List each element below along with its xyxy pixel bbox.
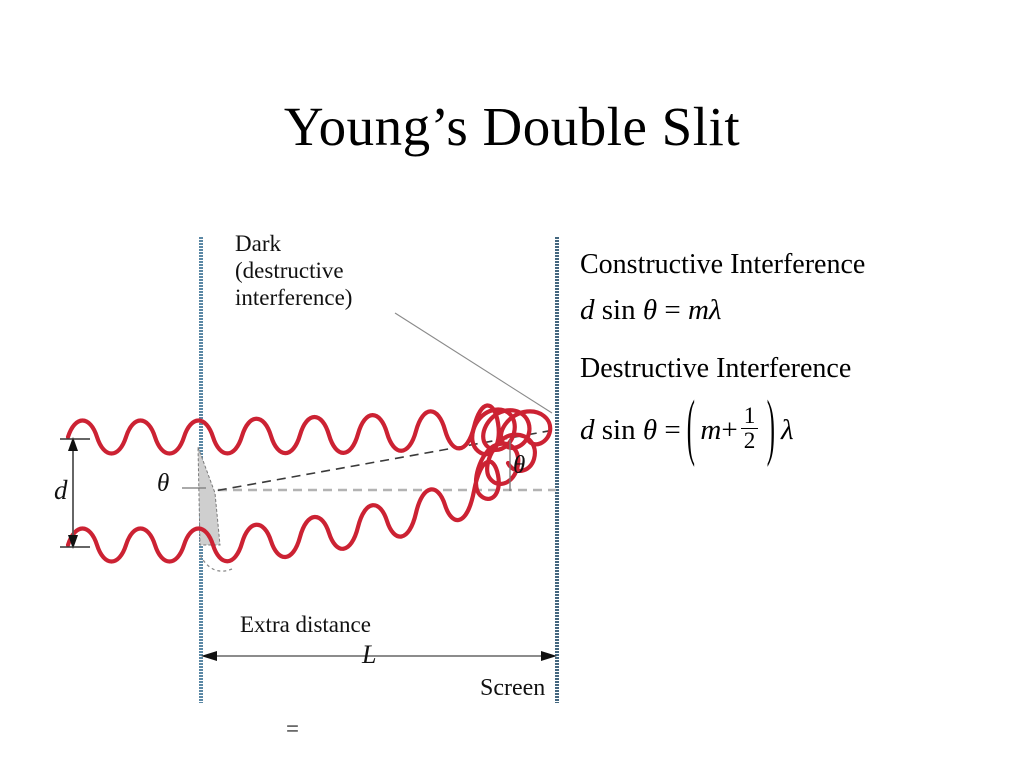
theta-label-left: θ — [157, 470, 169, 498]
slide-canvas: Young’s Double Slit — [0, 0, 1024, 768]
formula-sin: sin — [602, 414, 636, 446]
screen-label: Screen — [480, 675, 545, 702]
formula-plus: + — [721, 414, 737, 446]
one-half-fraction: 1 2 — [288, 742, 331, 768]
formula-sin: sin — [602, 294, 636, 326]
constructive-interference-formula: d sin θ = mλ — [580, 290, 1010, 330]
upper-wave — [68, 405, 550, 454]
fraction-numerator: 1 — [741, 404, 759, 428]
formula-lambda: λ — [781, 414, 794, 446]
extra-distance-label: Extra distance = 1 2 λ — [240, 560, 371, 768]
theta-label-right: θ — [513, 452, 525, 480]
double-slit-diagram: Dark (destructive interference) Extra di… — [40, 225, 580, 715]
L-arrow-head-left — [201, 651, 217, 661]
destructive-interference-heading: Destructive Interference — [580, 352, 1010, 386]
formula-m: m — [700, 414, 721, 446]
formula-d: d — [580, 414, 595, 446]
extra-distance-equation: = 1 2 λ — [240, 690, 371, 768]
formula-m: m — [688, 294, 709, 326]
fraction-denominator: 2 — [741, 428, 759, 453]
formula-equals: = — [664, 294, 680, 326]
constructive-interference-heading: Constructive Interference — [580, 248, 1010, 282]
destructive-interference-formula: d sin θ =(m+ 1 2 )λ — [580, 404, 1010, 454]
page-title: Young’s Double Slit — [0, 98, 1024, 156]
formula-equals: = — [664, 414, 680, 446]
formula-lambda: λ — [709, 294, 722, 326]
dark-destructive-label: Dark (destructive interference) — [235, 230, 352, 311]
extra-distance-equals: = — [286, 716, 299, 741]
formula-theta: θ — [643, 414, 657, 446]
formula-theta: θ — [643, 294, 657, 326]
formula-close-paren: ) — [767, 377, 775, 479]
equations-column: Constructive Interference d sin θ = mλ D… — [580, 248, 1010, 454]
extra-distance-text: Extra distance — [240, 612, 371, 638]
L-arrow-head-right — [541, 651, 557, 661]
formula-open-paren: ( — [686, 377, 694, 479]
one-half-fraction: 1 2 — [741, 404, 759, 454]
lower-wave — [68, 435, 535, 562]
dark-label-leader-line — [395, 313, 552, 413]
slit-separation-label: d — [54, 475, 68, 506]
formula-d: d — [580, 294, 595, 326]
screen-distance-label: L — [362, 640, 376, 670]
